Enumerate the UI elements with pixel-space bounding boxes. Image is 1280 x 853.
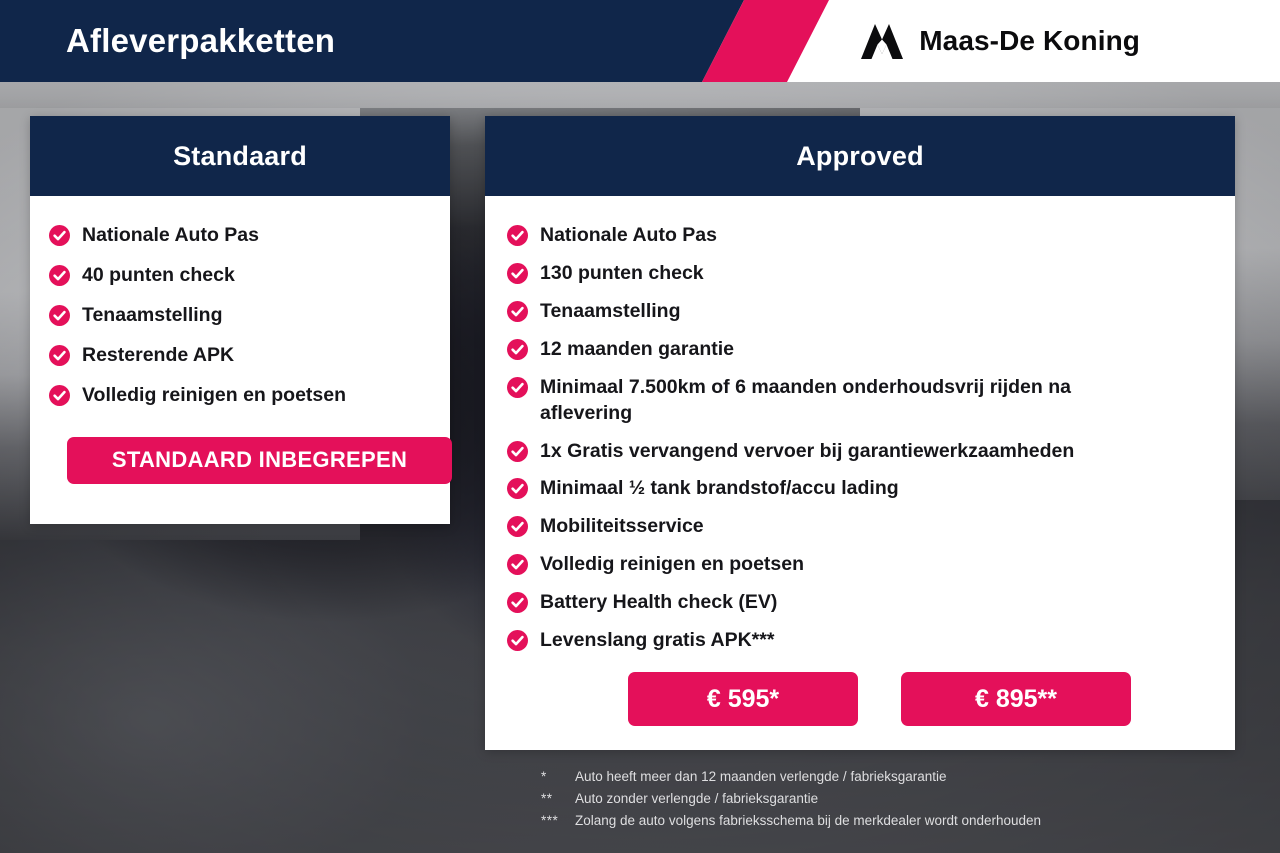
feature-label: 40 punten check (82, 263, 235, 289)
list-item: Tenaamstelling (507, 299, 1235, 325)
card-title-standaard: Standaard (173, 141, 307, 172)
list-item: 12 maanden garantie (507, 337, 1235, 363)
list-item: 1x Gratis vervangend vervoer bij garanti… (507, 439, 1235, 465)
footnotes: * Auto heeft meer dan 12 maanden verleng… (541, 766, 1241, 832)
feature-label: Minimaal 7.500km of 6 maanden onderhouds… (540, 375, 1115, 427)
feature-list-approved: Nationale Auto Pas 130 punten check Tena… (507, 223, 1235, 654)
check-circle-icon (507, 441, 528, 462)
feature-label: 12 maanden garantie (540, 337, 734, 363)
check-circle-icon (507, 225, 528, 246)
footnote-row: * Auto heeft meer dan 12 maanden verleng… (541, 766, 1241, 788)
footnote-row: *** Zolang de auto volgens fabrieksschem… (541, 810, 1241, 832)
feature-label: Mobiliteitsservice (540, 514, 704, 540)
feature-label: Volledig reinigen en poetsen (82, 383, 346, 409)
card-body-approved: Nationale Auto Pas 130 punten check Tena… (485, 196, 1235, 726)
feature-label: 1x Gratis vervangend vervoer bij garanti… (540, 439, 1074, 465)
feature-label: Resterende APK (82, 343, 234, 369)
check-circle-icon (49, 385, 70, 406)
check-circle-icon (49, 345, 70, 366)
card-body-standaard: Nationale Auto Pas 40 punten check Tenaa… (30, 196, 450, 484)
check-circle-icon (507, 592, 528, 613)
package-card-standaard: Standaard Nationale Auto Pas 40 punten c… (30, 116, 450, 524)
list-item: 130 punten check (507, 261, 1235, 287)
list-item: Nationale Auto Pas (49, 223, 450, 249)
footnote-marker: *** (541, 810, 575, 832)
list-item: Minimaal 7.500km of 6 maanden onderhouds… (507, 375, 1235, 427)
check-circle-icon (49, 265, 70, 286)
brand-lockup: Maas-De Koning (859, 0, 1140, 82)
brand-name: Maas-De Koning (919, 25, 1140, 57)
package-card-approved: Approved Nationale Auto Pas 130 punten c… (485, 116, 1235, 750)
footnote-marker: ** (541, 788, 575, 810)
maas-de-koning-logo-icon (859, 22, 905, 60)
feature-label: Nationale Auto Pas (82, 223, 259, 249)
check-circle-icon (507, 301, 528, 322)
card-header-approved: Approved (485, 116, 1235, 196)
feature-label: Tenaamstelling (540, 299, 681, 325)
list-item: Levenslang gratis APK*** (507, 628, 1235, 654)
footnote-marker: * (541, 766, 575, 788)
list-item: Minimaal ½ tank brandstof/accu lading (507, 476, 1235, 502)
price-button-595[interactable]: € 595* (628, 672, 858, 726)
check-circle-icon (507, 377, 528, 398)
feature-label: Volledig reinigen en poetsen (540, 552, 804, 578)
list-item: Resterende APK (49, 343, 450, 369)
feature-label: Levenslang gratis APK*** (540, 628, 774, 654)
list-item: Battery Health check (EV) (507, 590, 1235, 616)
page-title: Afleverpakketten (66, 0, 335, 82)
footnote-text: Auto heeft meer dan 12 maanden verlengde… (575, 766, 947, 788)
check-circle-icon (507, 630, 528, 651)
card-header-standaard: Standaard (30, 116, 450, 196)
list-item: 40 punten check (49, 263, 450, 289)
page-header: Afleverpakketten Maas-De Koning (0, 0, 1280, 82)
check-circle-icon (507, 263, 528, 284)
price-button-895[interactable]: € 895** (901, 672, 1131, 726)
card-title-approved: Approved (796, 141, 924, 172)
check-circle-icon (507, 339, 528, 360)
list-item: Mobiliteitsservice (507, 514, 1235, 540)
list-item: Tenaamstelling (49, 303, 450, 329)
list-item: Volledig reinigen en poetsen (49, 383, 450, 409)
feature-label: Minimaal ½ tank brandstof/accu lading (540, 476, 899, 502)
check-circle-icon (49, 225, 70, 246)
footnote-text: Zolang de auto volgens fabrieksschema bi… (575, 810, 1041, 832)
poster-stage: Afleverpakketten Maas-De Koning Standaar… (0, 0, 1280, 853)
footnote-row: ** Auto zonder verlengde / fabrieksgaran… (541, 788, 1241, 810)
standaard-inbegrepen-button[interactable]: STANDAARD INBEGREPEN (67, 437, 452, 484)
feature-label: Tenaamstelling (82, 303, 223, 329)
feature-list-standaard: Nationale Auto Pas 40 punten check Tenaa… (49, 223, 450, 409)
list-item: Nationale Auto Pas (507, 223, 1235, 249)
list-item: Volledig reinigen en poetsen (507, 552, 1235, 578)
check-circle-icon (49, 305, 70, 326)
feature-label: Nationale Auto Pas (540, 223, 717, 249)
footnote-text: Auto zonder verlengde / fabrieksgarantie (575, 788, 818, 810)
feature-label: 130 punten check (540, 261, 704, 287)
price-button-row: € 595* € 895** (628, 672, 1235, 726)
check-circle-icon (507, 516, 528, 537)
check-circle-icon (507, 478, 528, 499)
feature-label: Battery Health check (EV) (540, 590, 777, 616)
check-circle-icon (507, 554, 528, 575)
